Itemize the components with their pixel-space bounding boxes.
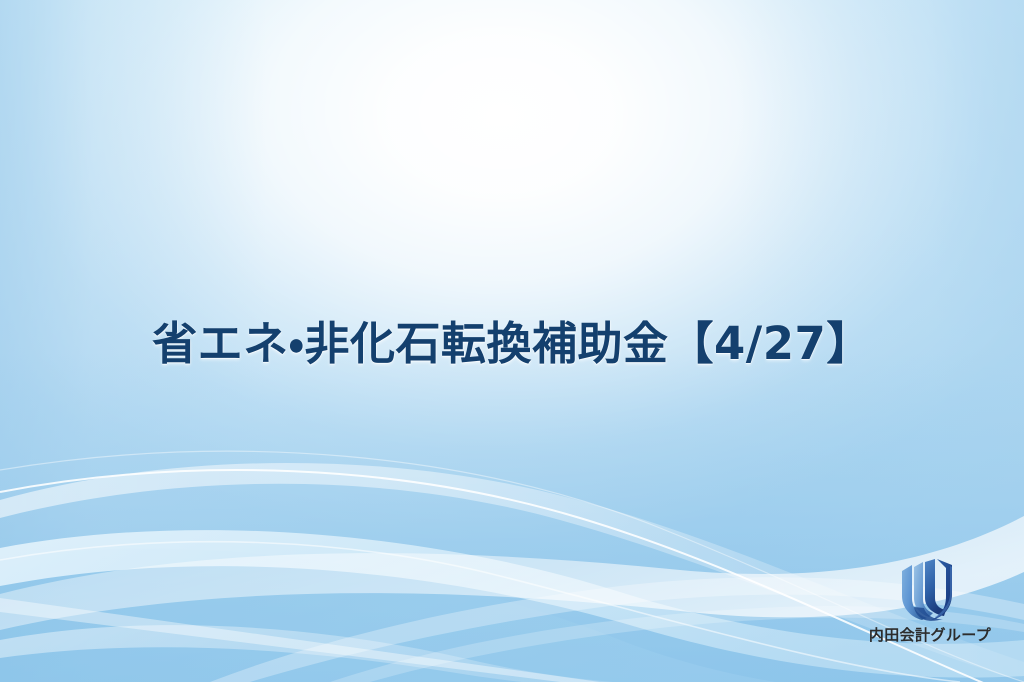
brand-logo: 内田会計グループ — [855, 556, 1005, 645]
slide-title-container: 省エネ・非化石転換補助金【4/27】 — [0, 287, 1024, 400]
presentation-slide: 省エネ・非化石転換補助金【4/27】 — [0, 0, 1024, 682]
slide-title: 省エネ・非化石転換補助金【4/27】 — [152, 317, 872, 370]
shield-u-mark-icon — [894, 556, 966, 622]
brand-logo-text: 内田会計グループ — [855, 624, 1005, 645]
